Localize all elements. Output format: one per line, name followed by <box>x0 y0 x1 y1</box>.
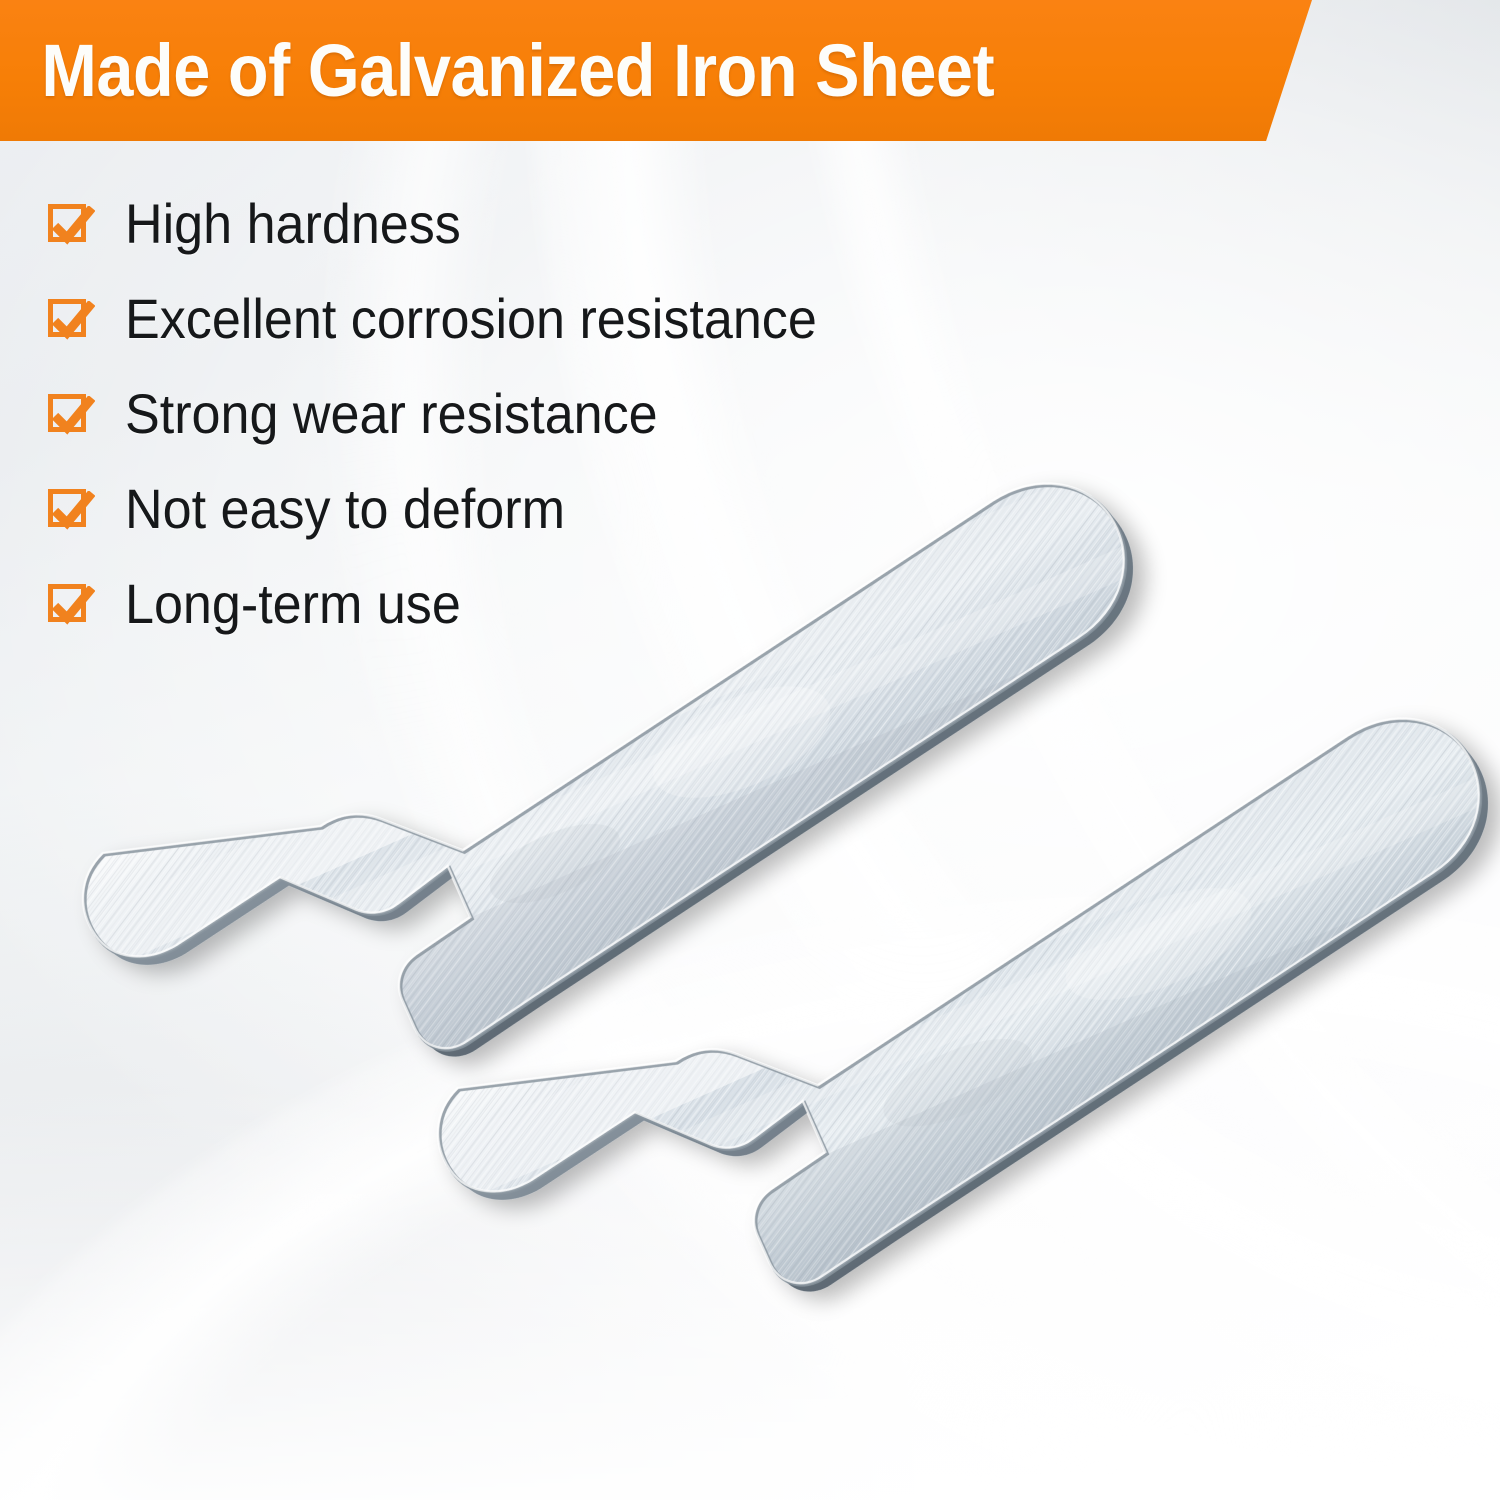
feature-item-high-hardness: High hardness <box>48 176 1028 271</box>
checkbox-checked-icon <box>48 200 95 247</box>
feature-label: Not easy to deform <box>125 481 565 537</box>
feature-item-corrosion-resistance: Excellent corrosion resistance <box>48 271 1028 366</box>
product-feature-image: Made of Galvanized Iron Sheet High hardn… <box>0 0 1500 1500</box>
checkbox-checked-icon <box>48 485 95 532</box>
feature-item-not-easy-to-deform: Not easy to deform <box>48 461 1028 556</box>
feature-label: Strong wear resistance <box>125 386 658 442</box>
feature-label: Long-term use <box>125 576 461 632</box>
checkbox-checked-icon <box>48 580 95 627</box>
feature-item-long-term-use: Long-term use <box>48 556 1028 651</box>
feature-item-wear-resistance: Strong wear resistance <box>48 366 1028 461</box>
feature-label: Excellent corrosion resistance <box>125 291 817 347</box>
checkbox-checked-icon <box>48 295 95 342</box>
banner-title: Made of Galvanized Iron Sheet <box>0 34 994 108</box>
feature-label: High hardness <box>125 196 461 252</box>
background-bottom-glow <box>0 1080 1500 1500</box>
feature-list: High hardness Excellent corrosion resist… <box>48 176 1028 651</box>
header-banner: Made of Galvanized Iron Sheet <box>0 0 1312 141</box>
checkbox-checked-icon <box>48 390 95 437</box>
